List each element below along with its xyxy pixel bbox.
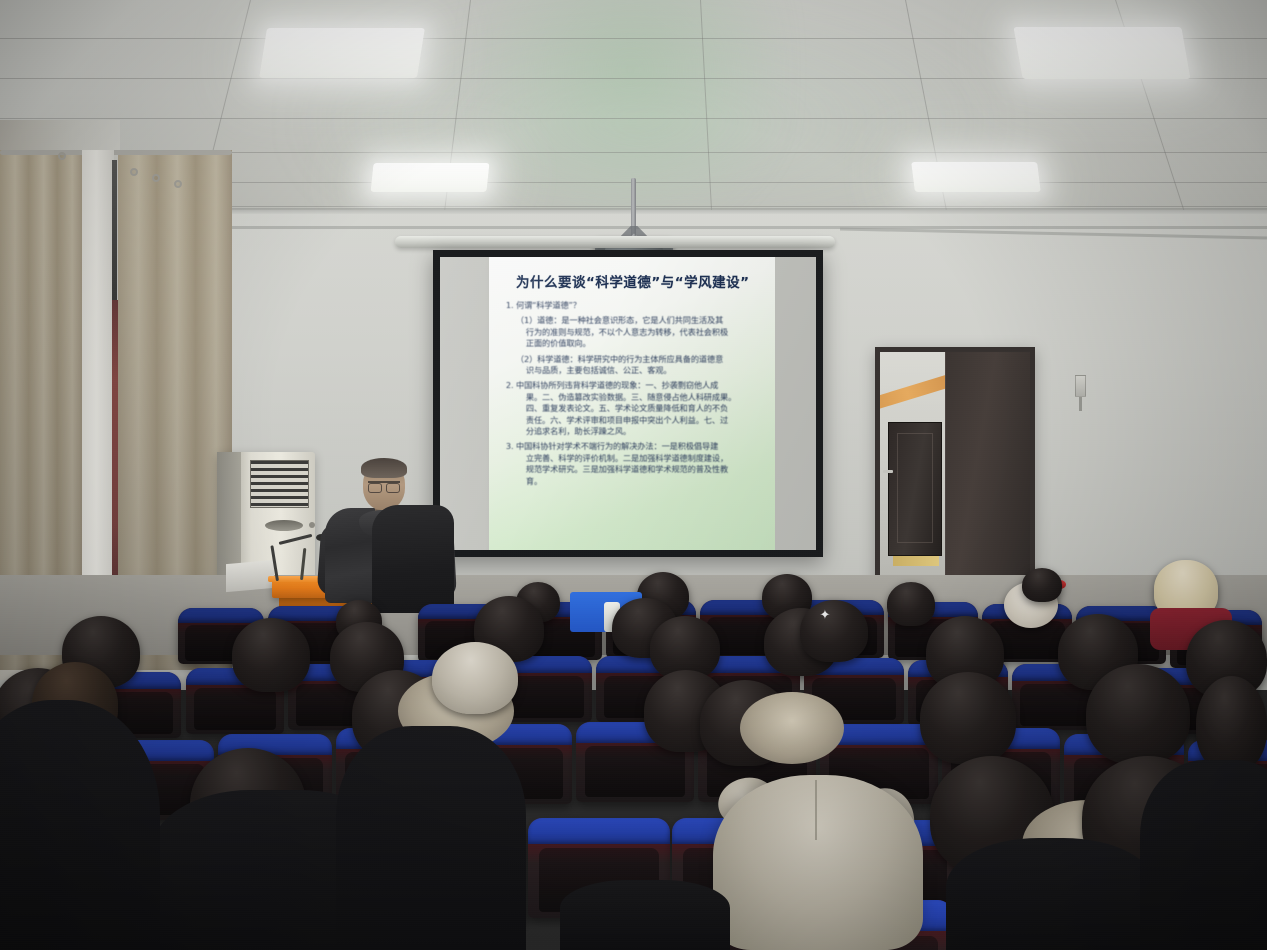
screen-surface: 为什么要谈“科学道德”与“学风建设” 1. 何谓“科学道德”？ （1）道德：是一… <box>440 257 816 550</box>
lecture-hall-photo: 为什么要谈“科学道德”与“学风建设” 1. 何谓“科学道德”？ （1）道德：是一… <box>0 0 1267 950</box>
doorway[interactable] <box>875 347 1035 583</box>
audience-head <box>920 672 1016 764</box>
ceiling-light-2 <box>1013 27 1190 79</box>
ac-vent-grille-icon <box>250 460 309 508</box>
audience-head <box>1196 676 1267 772</box>
slide-line: 育。 <box>526 476 764 487</box>
ac-indicator-icon <box>309 522 315 528</box>
ceiling-light-4 <box>911 162 1041 192</box>
wall-switch-icon[interactable] <box>1075 375 1086 397</box>
ceiling-light-3 <box>370 163 489 192</box>
curtain-rod <box>0 150 232 155</box>
wall-strip-dark <box>112 160 117 305</box>
audience-head <box>232 618 310 692</box>
foreground-head-silhouette <box>1140 760 1267 950</box>
ac-brand-badge <box>265 520 303 531</box>
curtain-ring <box>174 180 182 188</box>
audience-head <box>887 582 935 626</box>
foreground-head-silhouette <box>0 700 160 950</box>
screen-roller-housing <box>395 236 835 248</box>
ceiling-glow-green <box>480 0 780 220</box>
curtain-ring <box>58 152 66 160</box>
slide-line: 责任。六、学术评审和项目申报中突出个人利益。七、过 <box>526 415 764 426</box>
audience-head <box>1022 568 1062 602</box>
plush-hood-seam <box>815 780 817 840</box>
slide-line: 行为的准则与规范，不以个人意志为转移，代表社会积极 <box>526 327 764 338</box>
ceiling-conduit <box>230 226 1267 229</box>
slide-body: 1. 何谓“科学道德”？ （1）道德：是一种社会意识形态，它是人们共同生活及其 … <box>502 300 764 487</box>
slide-line: 2. 中国科协所列违背科学道德的现象：一、抄袭剽窃他人成 <box>506 380 764 391</box>
audience-head-fur-hood <box>432 642 518 714</box>
ceiling-light-1 <box>259 28 425 78</box>
slide-line: 四、重复发表论文。五、学术论文质量降低和育人的不负 <box>526 403 764 414</box>
audience-head <box>1086 664 1190 764</box>
slide-line: 识与品质，主要包括诚信、公正、客观。 <box>526 365 764 376</box>
fur-trimmed-collar <box>740 692 844 764</box>
curtain-ring <box>152 174 160 182</box>
door-frame <box>875 347 1035 583</box>
ceiling-tile-line <box>0 118 1267 119</box>
audience-head <box>800 600 868 662</box>
slide-line: 3. 中国科协针对学术不端行为的解决办法：一是积极倡导建 <box>506 441 764 452</box>
foreground-head-silhouette <box>336 726 526 950</box>
slide-line: （1）道德：是一种社会意识形态，它是人们共同生活及其 <box>516 315 764 326</box>
projection-screen[interactable]: 为什么要谈“科学道德”与“学风建设” 1. 何谓“科学道德”？ （1）道德：是一… <box>433 250 823 557</box>
slide-line: 果。二、伪造篡改实验数据。三、随意侵占他人科研成果。 <box>526 392 764 403</box>
slide-line: 立完善、科学的评价机制。二是加强科学道德制度建设， <box>526 453 764 464</box>
wall-pillar <box>82 150 114 620</box>
slide-title: 为什么要谈“科学道德”与“学风建设” <box>502 271 764 291</box>
curtain-ring <box>130 168 138 176</box>
projected-slide: 为什么要谈“科学道德”与“学风建设” 1. 何谓“科学道德”？ （1）道德：是一… <box>489 257 775 550</box>
foreground-head-silhouette <box>946 838 1156 950</box>
slide-line: （2）科学道德：科学研究中的行为主体所应具备的道德意 <box>516 354 764 365</box>
foreground-head-silhouette <box>560 880 730 950</box>
glasses-icon <box>368 481 400 489</box>
slide-line: 分追求名利，助长浮躁之风。 <box>526 426 764 437</box>
slide-line: 1. 何谓“科学道德”？ <box>506 300 764 311</box>
speaker-hair <box>361 458 407 478</box>
star-hairclip-icon: ✦ <box>818 608 832 622</box>
audience-plush-hooded-coat <box>713 775 923 950</box>
slide-line: 正面的价值取向。 <box>526 338 764 349</box>
slide-line: 规范学术研究。三是加强科学道德和学术规范的普及性教 <box>526 464 764 475</box>
